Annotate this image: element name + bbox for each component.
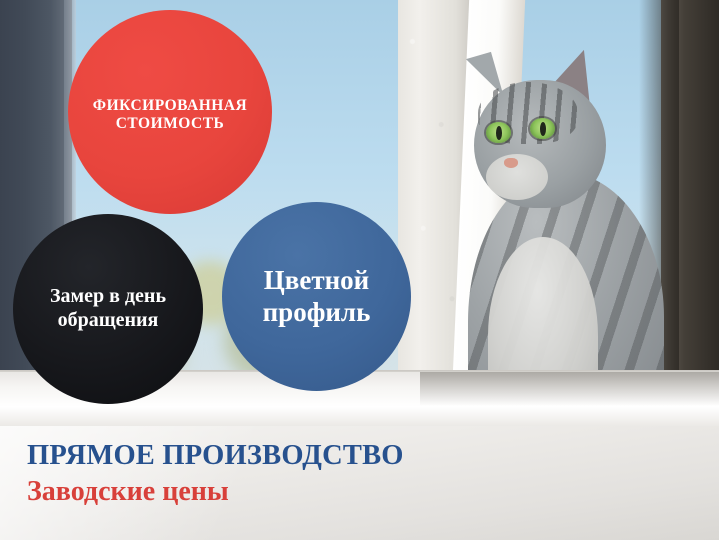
badge-same-day-measure-label: Замер в день обращения — [13, 285, 203, 332]
windowsill-shadow — [420, 372, 719, 406]
banner-subheadline: Заводские цены — [27, 476, 404, 508]
cat-pupil-left — [496, 126, 502, 140]
badge-same-day-measure: Замер в день обращения — [13, 214, 203, 404]
cat-pupil-right — [540, 122, 546, 136]
cat-nose — [504, 158, 518, 168]
badge-color-profile: Цветной профиль — [222, 202, 411, 391]
cat-illustration — [438, 22, 688, 412]
banner-text-block: ПРЯМОЕ ПРОИЗВОДСТВО Заводские цены — [27, 440, 404, 508]
advertising-banner-image: ФИКСИРОВАННАЯ СТОИМОСТЬ Замер в день обр… — [0, 0, 719, 540]
badge-color-profile-label: Цветной профиль — [222, 265, 411, 329]
badge-fixed-price: ФИКСИРОВАННАЯ СТОИМОСТЬ — [68, 10, 272, 214]
bottom-banner: ПРЯМОЕ ПРОИЗВОДСТВО Заводские цены КОНСИ… — [0, 426, 719, 540]
cat-eye-right — [530, 118, 555, 139]
badge-fixed-price-label: ФИКСИРОВАННАЯ СТОИМОСТЬ — [68, 97, 272, 134]
banner-headline: ПРЯМОЕ ПРОИЗВОДСТВО — [27, 440, 404, 472]
cat-eye-left — [486, 122, 511, 143]
